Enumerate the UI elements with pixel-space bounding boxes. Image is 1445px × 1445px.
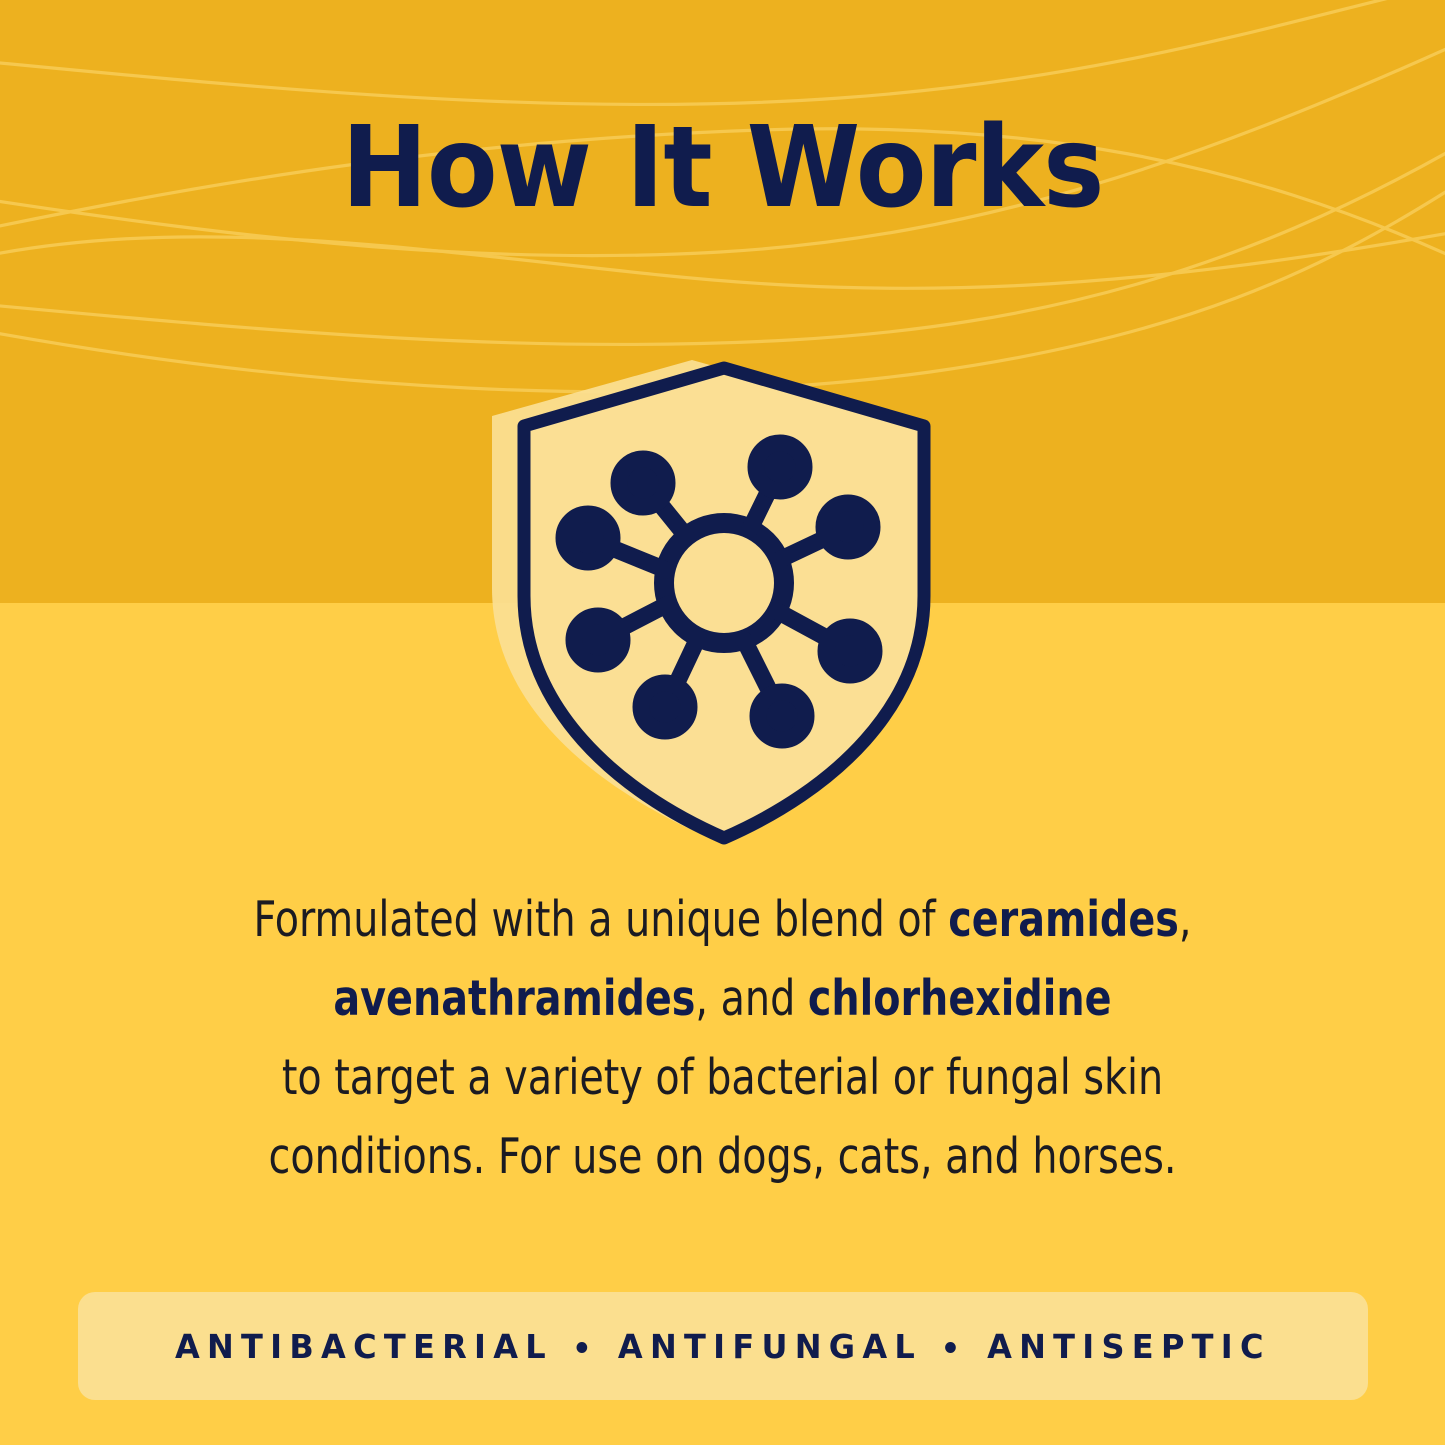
shield-germ-icon: [452, 338, 992, 848]
body-highlight-term: avenathramides: [333, 970, 695, 1027]
body-text-run: , and: [695, 970, 807, 1027]
body-text-run: conditions. For use on dogs, cats, and h…: [269, 1128, 1177, 1185]
how-it-works-poster: How It Works: [0, 0, 1445, 1445]
body-line: Formulated with a unique blend of cerami…: [180, 880, 1265, 959]
body-text-run: Formulated with a unique blend of: [254, 891, 949, 948]
body-highlight-term: ceramides: [948, 891, 1179, 948]
badge-separator-dot: [576, 1342, 587, 1353]
claims-badge-list: ANTIBACTERIALANTIFUNGALANTISEPTIC: [173, 1327, 1273, 1366]
body-text-run: to target a variety of bacterial or fung…: [282, 1049, 1163, 1106]
body-line: conditions. For use on dogs, cats, and h…: [180, 1117, 1265, 1196]
body-paragraph: Formulated with a unique blend of cerami…: [180, 880, 1265, 1196]
badge-separator-dot: [946, 1342, 957, 1353]
body-line: to target a variety of bacterial or fung…: [180, 1038, 1265, 1117]
claims-badge-bar: ANTIBACTERIALANTIFUNGALANTISEPTIC: [78, 1292, 1368, 1400]
badge-item-antibacterial: ANTIBACTERIAL: [173, 1327, 555, 1366]
body-line: avenathramides, and chlorhexidine: [180, 959, 1265, 1038]
badge-item-antiseptic: ANTISEPTIC: [985, 1327, 1273, 1366]
body-text-run: ,: [1179, 891, 1192, 948]
shield-shape: [524, 368, 924, 838]
badge-item-antifungal: ANTIFUNGAL: [616, 1327, 924, 1366]
page-title: How It Works: [58, 112, 1387, 224]
body-highlight-term: chlorhexidine: [808, 970, 1112, 1027]
